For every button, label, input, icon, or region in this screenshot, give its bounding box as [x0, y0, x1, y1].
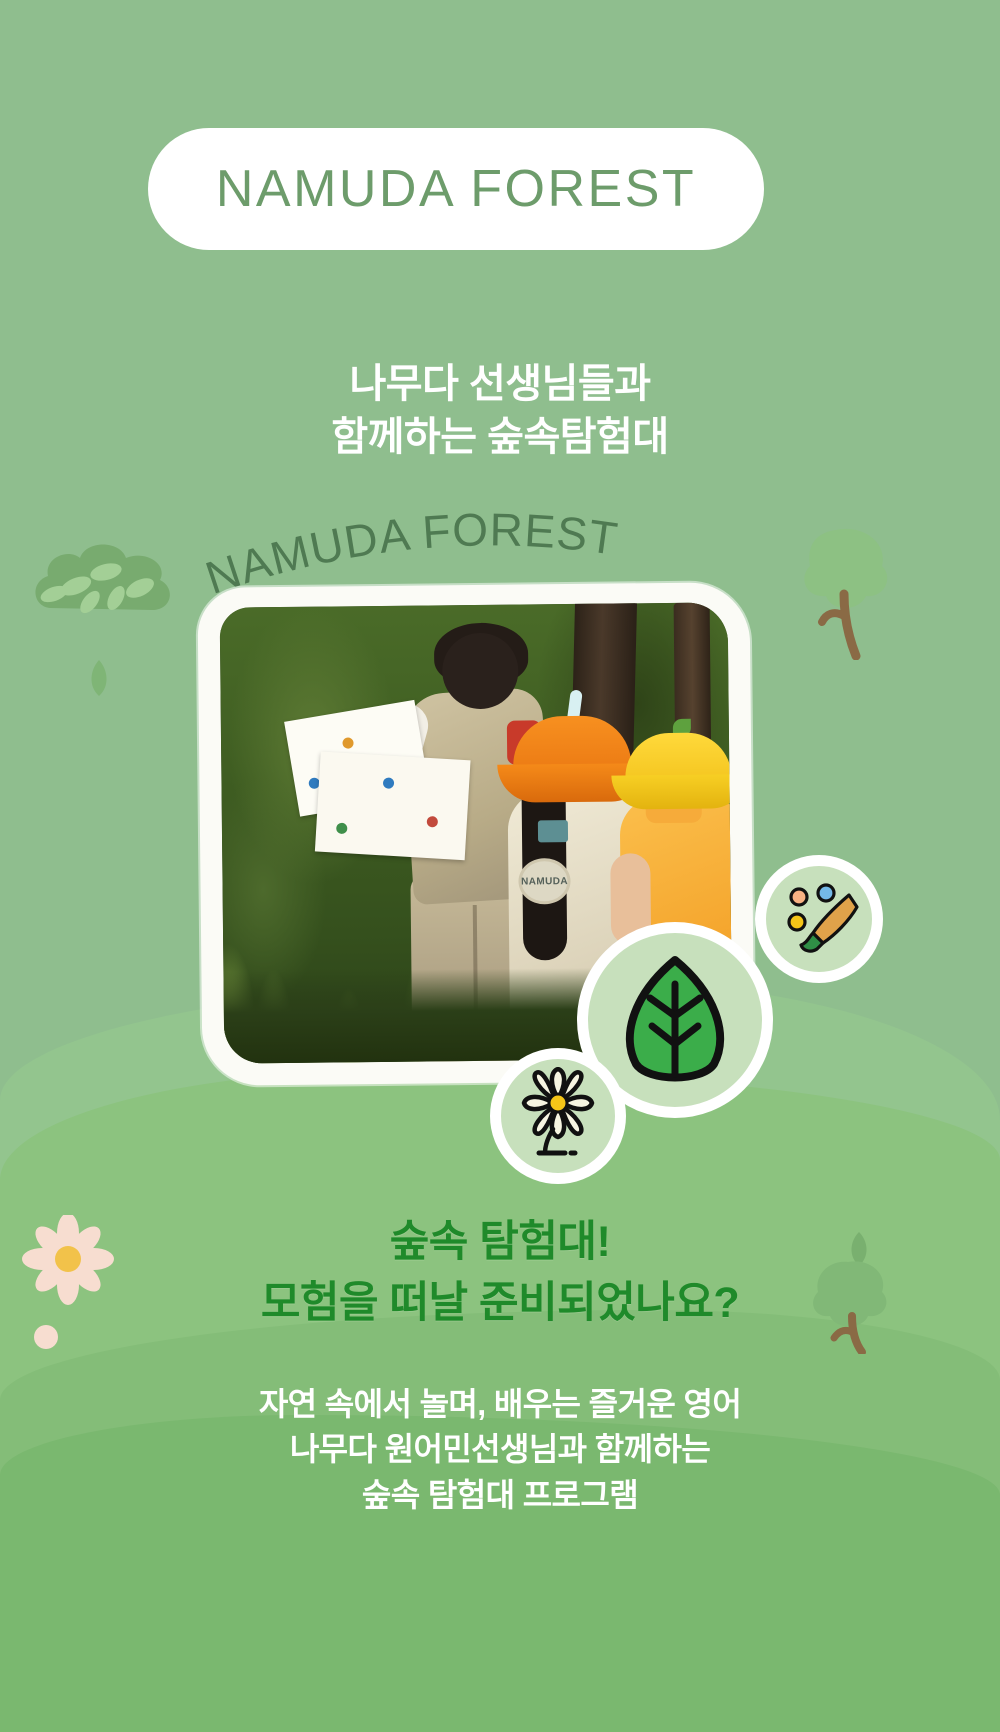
subtitle-block: 나무다 선생님들과 함께하는 숲속탐험대	[0, 358, 1000, 464]
footer-line-3: 숲속 탐험대 프로그램	[0, 1473, 1000, 1518]
cta-line-2: 모험을 떠날 준비되었나요?	[0, 1273, 1000, 1334]
footer-paragraph: 자연 속에서 놀며, 배우는 즐거운 영어 나무다 원어민선생님과 함께하는 숲…	[0, 1382, 1000, 1518]
footer-line-2: 나무다 원어민선생님과 함께하는	[0, 1427, 1000, 1472]
photo-teacher-head	[442, 633, 519, 710]
tree-decoration-icon	[770, 520, 900, 660]
leaf-icon	[610, 954, 740, 1086]
small-leaf-decoration-icon	[88, 660, 110, 696]
paintbrush-icon	[777, 877, 861, 961]
footer-line-1: 자연 속에서 놀며, 배우는 즐거운 영어	[0, 1382, 1000, 1427]
flower-icon	[509, 1067, 607, 1165]
photo-worksheet-2	[315, 752, 471, 861]
cta-heading: 숲속 탐험대! 모험을 떠날 준비되었나요?	[0, 1212, 1000, 1334]
photo-child2-hat-brim	[611, 774, 732, 809]
cta-line-1: 숲속 탐험대!	[0, 1212, 1000, 1273]
subtitle-line-1: 나무다 선생님들과	[0, 358, 1000, 411]
poster-canvas: NAMUDA FOREST 나무다 선생님들과 함께하는 숲속탐험대 NAMUD…	[0, 0, 1000, 1732]
flower-badge	[490, 1048, 626, 1184]
shrub-decoration-icon	[28, 530, 178, 622]
photo-child1-tag	[538, 820, 568, 842]
subtitle-line-2: 함께하는 숲속탐험대	[0, 411, 1000, 464]
page-title: NAMUDA FOREST	[216, 159, 696, 219]
paintbrush-badge	[755, 855, 883, 983]
header-pill: NAMUDA FOREST	[148, 128, 764, 250]
